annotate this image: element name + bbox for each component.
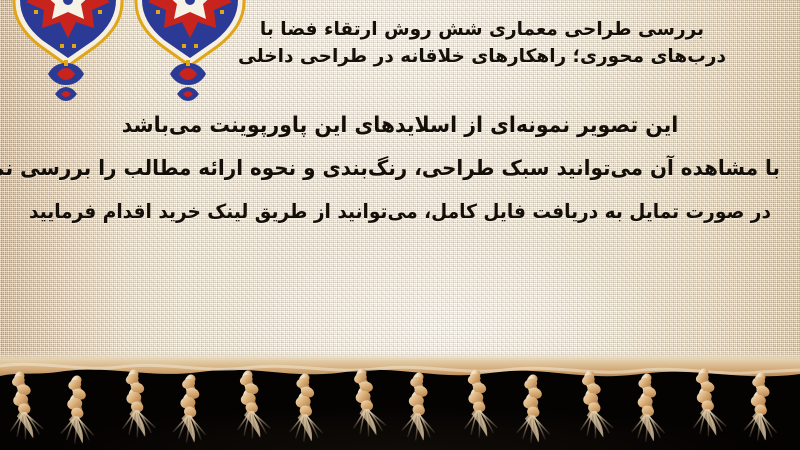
slide-title-line-1: بررسی طراحی معماری شش روش ارتقاء فضا با bbox=[182, 16, 782, 43]
body-line-2: با مشاهده آن می‌توانید سبک طراحی، رنگ‌بن… bbox=[20, 147, 780, 190]
body-line-1: این تصویر نمونه‌ای از اسلایدهای این پاور… bbox=[20, 104, 780, 147]
black-backdrop bbox=[0, 366, 800, 450]
body-line-3: در صورت تمایل به دریافت فایل کامل، می‌تو… bbox=[20, 190, 780, 233]
slide-title-line-2: درب‌های محوری؛ راهکارهای خلاقانه در طراح… bbox=[182, 43, 782, 70]
slide-body: این تصویر نمونه‌ای از اسلایدهای این پاور… bbox=[0, 104, 800, 233]
slide-title: بررسی طراحی معماری شش روش ارتقاء فضا با … bbox=[182, 16, 782, 70]
slide-canvas: بررسی طراحی معماری شش روش ارتقاء فضا با … bbox=[0, 0, 800, 450]
